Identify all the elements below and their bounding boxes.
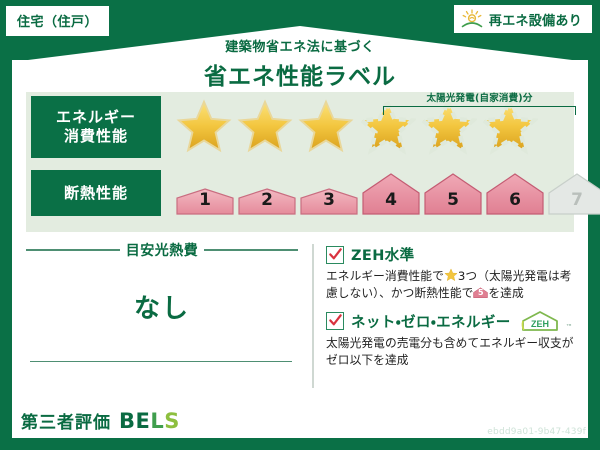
- title-block: 建築物省エネ法に基づく 省エネ性能ラベル: [0, 36, 600, 91]
- criteria-title-net-zero-energy: ネット・ゼロ・エネルギー: [351, 311, 511, 332]
- utility-cost-section: 目安光熱費 なし: [26, 240, 298, 390]
- insulation-level-7: 7: [547, 171, 600, 215]
- zeh-logo-icon: ZEH: [520, 310, 560, 332]
- checkbox-zeh-standard[interactable]: [326, 246, 344, 264]
- star-icon-solid-3: [297, 98, 355, 156]
- bels-japanese-label: 第三者評価: [21, 408, 111, 433]
- check-icon-1: [328, 247, 343, 262]
- criteria-title-zeh-standard: ZEH水準: [351, 244, 415, 265]
- svg-text:ZEH: ZEH: [531, 319, 549, 329]
- house-badge-inline: 5: [473, 285, 488, 300]
- insulation-level-value-5: 5: [423, 190, 483, 210]
- building-type-tag: 住宅（住戸）: [6, 6, 109, 36]
- criteria-desc-net-zero-energy: 太陽光発電の売電分も含めてエネルギー収支がゼロ以下を達成: [326, 335, 576, 368]
- bels-certificate-id: 0280856-01 102: [205, 414, 314, 430]
- utility-cost-heading-text: 目安光熱費: [126, 240, 199, 260]
- criteria-checklist: ZEH水準 エネルギー消費性能で3つ（太陽光発電は考慮しない）、かつ断熱性能で5…: [326, 244, 576, 377]
- title-subtitle: 建築物省エネ法に基づく: [0, 36, 600, 55]
- insulation-level-6: 6: [485, 171, 545, 215]
- bels-logo-part3: S: [164, 409, 180, 433]
- utility-cost-bottom-rule: [30, 361, 292, 363]
- criteria-title-row-1: ZEH水準: [326, 244, 576, 265]
- check-icon-2: [328, 313, 343, 328]
- bels-logo-part1: BE: [119, 409, 150, 433]
- bels-logo-text: BELS: [119, 409, 180, 433]
- evaluation-hash: ebdd9a01-9b47-439f: [487, 427, 586, 437]
- house-badge-inline-value: 5: [473, 287, 488, 298]
- solar-bracket-label: 太陽光発電(自家消費)分: [383, 94, 576, 104]
- criteria-desc-part3: を達成: [488, 286, 523, 300]
- insulation-level-value-7: 7: [547, 190, 600, 210]
- energy-label-line1: エネルギー: [56, 108, 136, 127]
- insulation-level-value-1: 1: [175, 190, 235, 210]
- renewable-badge-label: 再エネ設備あり: [489, 10, 582, 29]
- insulation-level-value-4: 4: [361, 190, 421, 210]
- criteria-desc-zeh-standard: エネルギー消費性能で3つ（太陽光発電は考慮しない）、かつ断熱性能で5を達成: [326, 268, 576, 301]
- criteria-desc-part1: エネルギー消費性能で: [326, 269, 444, 283]
- renewable-energy-badge: 再エネ設備あり: [454, 5, 592, 33]
- insulation-level-value-6: 6: [485, 190, 545, 210]
- zeh-trademark: ᵀᴹ: [567, 324, 572, 330]
- evaluation-date: 評価日 2024年11月26日: [413, 405, 586, 425]
- utility-cost-heading: 目安光熱費: [26, 240, 298, 260]
- performance-panel: 太陽光発電(自家消費)分 エネルギー 消費性能: [26, 92, 574, 232]
- insulation-performance-row: 断熱性能 1 2: [31, 170, 600, 216]
- star-icon-solid-2: [236, 98, 294, 156]
- insulation-level-5: 5: [423, 171, 483, 215]
- solar-generation-bracket: 太陽光発電(自家消費)分: [383, 94, 576, 124]
- utility-cost-value: なし: [26, 288, 298, 325]
- energy-performance-label: 住宅（住戸） 再エネ設備あり 建築物省エネ法に基づく 省エネ性能ラベル 太陽光発…: [0, 0, 600, 450]
- criteria-item-net-zero-energy: ネット・ゼロ・エネルギー ZEH ᵀᴹ 太陽光発電の売電分も含めてエネルギー収支…: [326, 310, 576, 368]
- criteria-item-zeh-standard: ZEH水準 エネルギー消費性能で3つ（太陽光発電は考慮しない）、かつ断熱性能で5…: [326, 244, 576, 301]
- insulation-row-label: 断熱性能: [31, 170, 161, 216]
- insulation-level-3: 3: [299, 179, 359, 215]
- insulation-level-2: 2: [237, 179, 297, 215]
- checkbox-net-zero-energy[interactable]: [326, 312, 344, 330]
- insulation-level-value-3: 3: [299, 190, 359, 210]
- star-icon-solid-1: [175, 98, 233, 156]
- sun-icon: [460, 9, 484, 29]
- energy-row-label: エネルギー 消費性能: [31, 96, 161, 158]
- title-main: 省エネ性能ラベル: [0, 57, 600, 91]
- energy-label-line2: 消費性能: [64, 127, 128, 146]
- label-footer: 第三者評価 BELS 0280856-01 102 評価日 2024年11月26…: [0, 398, 600, 450]
- insulation-level-1: 1: [175, 179, 235, 215]
- insulation-level-4: 4: [361, 171, 421, 215]
- insulation-label-text: 断熱性能: [64, 184, 128, 203]
- bels-logo-part2: L: [150, 409, 164, 433]
- bracket-line: [383, 106, 576, 115]
- criteria-title-row-2: ネット・ゼロ・エネルギー ZEH ᵀᴹ: [326, 310, 576, 332]
- insulation-level-scale: 1 2 3: [175, 171, 600, 215]
- star-icon-inline: [444, 268, 458, 282]
- heading-rule-right: [204, 249, 298, 251]
- column-divider: [312, 244, 314, 388]
- insulation-level-value-2: 2: [237, 190, 297, 210]
- bels-badge: 第三者評価 BELS: [12, 404, 189, 438]
- heading-rule-left: [26, 249, 120, 251]
